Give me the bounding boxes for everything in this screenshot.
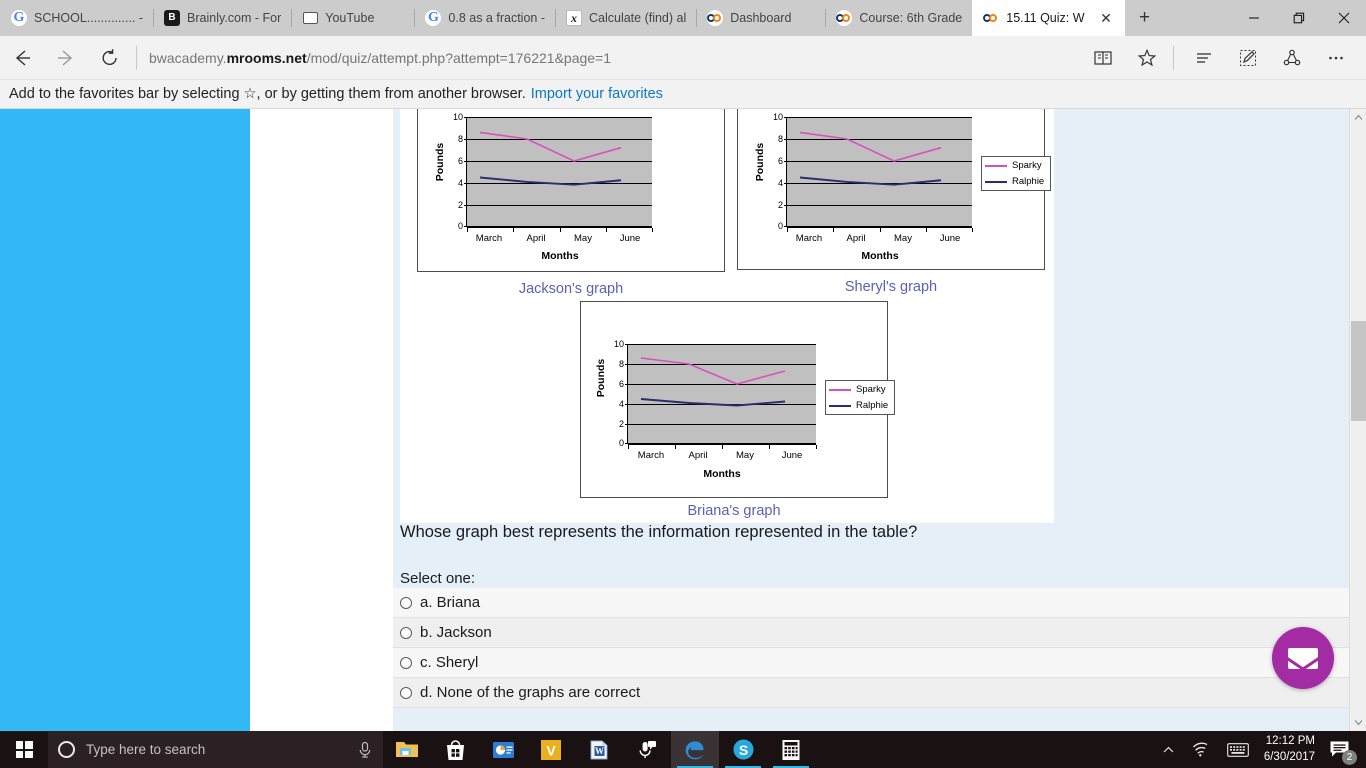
calculator-icon: x	[566, 10, 582, 26]
clock-time: 12:12 PM	[1266, 734, 1315, 750]
new-tab-button[interactable]: +	[1125, 0, 1165, 36]
chart-x-axis-title: Months	[541, 250, 578, 262]
clock-date: 6/30/2017	[1264, 750, 1315, 766]
chart-x-tick-1: April	[526, 233, 545, 244]
tab-label: Brainly.com - For	[187, 11, 281, 25]
scroll-down-icon[interactable]	[1350, 714, 1366, 731]
quiz-content-area: Pounds	[393, 109, 1349, 731]
radio-button-b[interactable]	[400, 627, 412, 639]
url-domain: mrooms.net	[227, 50, 307, 66]
share-icon[interactable]	[1270, 36, 1314, 80]
svg-text:S: S	[738, 742, 747, 758]
address-bar[interactable]: bwacademy.mrooms.net/mod/quiz/attempt.ph…	[145, 36, 1081, 80]
chart-x-tick-1: April	[846, 233, 865, 244]
chart-series-sheryl	[787, 117, 972, 227]
microsoft-edge-icon[interactable]	[671, 731, 719, 768]
chart-series-briana	[628, 344, 816, 444]
answer-label-d: d. None of the graphs are correct	[420, 684, 640, 701]
legend-item-ralphie: Ralphie	[985, 176, 1044, 187]
answer-option-b[interactable]: b. Jackson	[393, 618, 1349, 648]
skype-icon[interactable]: S	[719, 731, 767, 768]
chart-plot-area-sheryl: 10 8 6 4 2 0	[787, 117, 972, 227]
legend-item-sparky: Sparky	[829, 384, 888, 395]
back-arrow-icon[interactable]	[0, 36, 44, 80]
chart-legend-sheryl: Sparky Ralphie	[981, 156, 1051, 191]
svg-text:V: V	[546, 742, 556, 758]
chart-sheryl: Pounds	[738, 109, 1044, 269]
youtube-icon	[302, 10, 318, 26]
import-favorites-link[interactable]: Import your favorites	[531, 86, 663, 102]
legend-item-ralphie: Ralphie	[829, 400, 888, 411]
file-explorer-icon[interactable]	[383, 731, 431, 768]
browser-tab-strip: G SCHOOL.............. - B Brainly.com -…	[0, 0, 1366, 36]
answer-options-list: a. Briana b. Jackson c. Sheryl d. None o…	[393, 588, 1349, 708]
chart-plot-area-briana: 10 8 6 4 2 0	[628, 344, 816, 444]
touch-keyboard-icon[interactable]	[1218, 731, 1258, 768]
refresh-icon[interactable]	[88, 36, 132, 80]
close-icon[interactable]	[1321, 0, 1366, 36]
moodle-icon	[707, 10, 723, 26]
question-text: Whose graph best represents the informat…	[400, 523, 917, 542]
powerpoint-icon[interactable]	[479, 731, 527, 768]
google-icon: G	[11, 10, 27, 26]
answer-option-a[interactable]: a. Briana	[393, 588, 1349, 618]
question-image-block: Pounds	[400, 109, 1054, 523]
tab-label: Course: 6th Grade	[859, 11, 962, 25]
browser-toolbar-actions	[1081, 36, 1366, 80]
taskbar-clock[interactable]: 12:12 PM 6/30/2017	[1258, 734, 1325, 765]
chart-x-tick-2: May	[894, 233, 912, 244]
toolbar-divider	[136, 46, 137, 70]
legend-swatch-sparky	[985, 165, 1007, 167]
windows-taskbar: Type here to search	[0, 731, 1366, 768]
cortana-circle-icon	[58, 741, 75, 758]
scrollbar-thumb[interactable]	[1351, 321, 1366, 421]
minimize-icon[interactable]	[1231, 0, 1276, 36]
chart-caption-briana: Briana's graph	[580, 503, 888, 519]
brainly-icon: B	[164, 10, 180, 26]
tab-label: YouTube	[325, 11, 374, 25]
legend-item-sparky: Sparky	[985, 160, 1044, 171]
chart-y-axis-title: Pounds	[754, 132, 766, 192]
radio-button-c[interactable]	[400, 657, 412, 669]
browser-tab-7-active[interactable]: 15.11 Quiz: W ✕	[972, 0, 1124, 36]
notification-count-badge: 2	[1342, 750, 1357, 765]
chevron-up-icon[interactable]	[1154, 731, 1183, 768]
chart-x-tick-3: June	[940, 233, 961, 244]
favorites-bar: Add to the favorites bar by selecting ☆,…	[0, 80, 1366, 109]
page-left-gutter	[250, 109, 393, 731]
tab-label: Dashboard	[730, 11, 791, 25]
calculator-icon[interactable]	[767, 731, 815, 768]
chart-briana: Pounds	[581, 302, 887, 497]
moodle-icon	[983, 10, 999, 26]
voice-recorder-icon[interactable]	[623, 731, 671, 768]
search-placeholder: Type here to search	[86, 742, 346, 757]
browser-tab-0[interactable]: G SCHOOL.............. -	[0, 0, 153, 36]
answer-label-a: a. Briana	[420, 594, 480, 611]
hub-icon[interactable]	[1182, 36, 1226, 80]
browser-navigation-bar: bwacademy.mrooms.net/mod/quiz/attempt.ph…	[0, 36, 1366, 80]
browser-tab-3[interactable]: G 0.8 as a fraction -	[414, 0, 555, 36]
chart-y-axis-title: Pounds	[595, 348, 607, 408]
legend-label-sparky: Sparky	[856, 384, 886, 395]
chart-card-sheryl: Pounds	[737, 109, 1045, 270]
envelope-glyph	[1288, 648, 1318, 669]
chart-x-axis-title: Months	[861, 250, 898, 262]
close-tab-icon[interactable]: ✕	[1098, 10, 1115, 27]
chart-x-tick-2: May	[574, 233, 592, 244]
legend-swatch-ralphie	[985, 181, 1007, 183]
chart-x-tick-0: March	[796, 233, 822, 244]
svg-text:W: W	[595, 746, 604, 756]
restore-icon[interactable]	[1276, 0, 1321, 36]
system-tray: 12:12 PM 6/30/2017 2	[1154, 731, 1366, 768]
legend-label-ralphie: Ralphie	[856, 400, 888, 411]
chart-plot-area-jackson: 10 8 6 4 2 0	[467, 117, 652, 227]
tab-label: 15.11 Quiz: W	[1006, 11, 1084, 25]
chart-x-tick-0: March	[476, 233, 502, 244]
radio-button-d[interactable]	[400, 687, 412, 699]
chart-caption-sheryl: Sheryl's graph	[737, 279, 1045, 295]
legend-label-ralphie: Ralphie	[1012, 176, 1044, 187]
message-icon[interactable]	[1272, 627, 1334, 689]
moodle-icon	[836, 10, 852, 26]
search-input[interactable]: Type here to search	[48, 731, 383, 768]
answer-label-b: b. Jackson	[420, 624, 492, 641]
favorites-star-icon[interactable]	[1125, 36, 1169, 80]
microphone-icon[interactable]	[357, 741, 373, 759]
legend-swatch-sparky	[829, 389, 851, 391]
browser-tab-2[interactable]: YouTube	[291, 0, 384, 36]
url-path: /mod/quiz/attempt.php?attempt=176221&pag…	[307, 50, 611, 66]
page-left-banner	[0, 109, 250, 731]
wifi-icon[interactable]	[1183, 731, 1218, 768]
forward-arrow-icon[interactable]	[44, 36, 88, 80]
legend-swatch-ralphie	[829, 405, 851, 407]
chart-x-tick-2: May	[736, 450, 754, 461]
tab-label: 0.8 as a fraction -	[448, 11, 545, 25]
tab-label: SCHOOL.............. -	[34, 11, 143, 25]
microsoft-store-icon[interactable]	[431, 731, 479, 768]
favorites-bar-message: Add to the favorites bar by selecting ☆,…	[9, 86, 526, 102]
more-icon[interactable]	[1314, 36, 1358, 80]
chart-x-axis-title: Months	[703, 468, 740, 480]
word-icon[interactable]: W	[575, 731, 623, 768]
window-controls	[1231, 0, 1366, 36]
windows-start-icon[interactable]	[0, 731, 48, 768]
chart-x-tick-3: June	[782, 450, 803, 461]
legend-label-sparky: Sparky	[1012, 160, 1042, 171]
answer-option-d[interactable]: d. None of the graphs are correct	[393, 678, 1349, 708]
url-prefix: bwacademy.	[149, 50, 227, 66]
chart-card-jackson: Pounds	[417, 109, 725, 272]
chart-jackson: Pounds	[418, 109, 724, 271]
web-note-icon[interactable]	[1226, 36, 1270, 80]
vegas-icon[interactable]: V	[527, 731, 575, 768]
answer-label-c: c. Sheryl	[420, 654, 478, 671]
browser-tab-1[interactable]: B Brainly.com - For	[153, 0, 291, 36]
page-viewport: Pounds	[0, 109, 1366, 731]
chart-card-briana: Pounds	[580, 301, 888, 498]
action-center-icon[interactable]: 2	[1325, 731, 1360, 768]
desktop-root: G SCHOOL.............. - B Brainly.com -…	[0, 0, 1366, 768]
toolbar-divider-2	[1173, 46, 1174, 70]
reading-view-icon[interactable]	[1081, 36, 1125, 80]
scroll-up-icon[interactable]	[1350, 109, 1366, 126]
radio-button-a[interactable]	[400, 597, 412, 609]
chart-x-tick-3: June	[620, 233, 641, 244]
chart-y-axis-title: Pounds	[434, 132, 446, 192]
google-icon: G	[425, 10, 441, 26]
chart-legend-briana: Sparky Ralphie	[825, 380, 895, 415]
browser-tab-5[interactable]: Dashboard	[696, 0, 801, 36]
chart-caption-jackson: Jackson's graph	[417, 281, 725, 297]
answer-option-c[interactable]: c. Sheryl	[393, 648, 1349, 678]
browser-tab-4[interactable]: x Calculate (find) al	[555, 0, 696, 36]
chart-x-tick-0: March	[638, 450, 664, 461]
browser-tab-6[interactable]: Course: 6th Grade	[825, 0, 972, 36]
chart-x-tick-1: April	[688, 450, 707, 461]
tab-label: Calculate (find) al	[589, 11, 686, 25]
taskbar-app-list: V W	[383, 731, 815, 768]
select-one-label: Select one:	[400, 570, 475, 587]
chart-series-jackson	[467, 117, 652, 227]
page-scrollbar[interactable]	[1349, 109, 1366, 731]
